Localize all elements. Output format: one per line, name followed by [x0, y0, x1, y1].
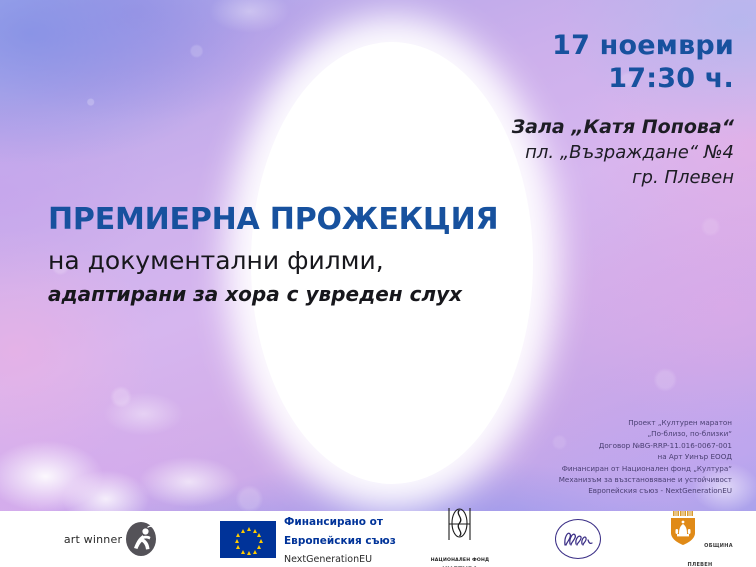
credits-line: Проект „Културен маратон	[402, 417, 732, 428]
credits-line: „По-близо, по-близки“	[402, 428, 732, 439]
eu-label-line-3: NextGenerationEU	[284, 554, 372, 565]
eu-label-line-2: Европейския съюз	[284, 535, 396, 547]
footer-logo-bar: art winner	[0, 511, 756, 567]
art-winner-label: art winner	[64, 533, 122, 546]
running-figure-circle-icon	[126, 522, 156, 556]
credits-line: Европейския съюз - NextGenerationEU	[402, 485, 732, 496]
headline-main: ПРЕМИЕРНА ПРОЖЕКЦИЯ	[48, 203, 478, 236]
credits-line: Финансиран от Национален фонд „Култура“	[402, 463, 732, 474]
venue-city: гр. Плевен	[434, 165, 734, 190]
culture-fund-caption: НАЦИОНАЛЕН ФОНД КУЛТУРА	[420, 558, 500, 567]
logo-national-culture-fund: НАЦИОНАЛЕН ФОНД КУЛТУРА	[420, 511, 500, 567]
venue-hall: Зала „Катя Попова“	[434, 114, 734, 140]
logo-european-union: Финансирано от Европейския съюз NextGene…	[220, 511, 400, 567]
poster-canvas: 17 ноември 17:30 ч. Зала „Катя Попова“ п…	[0, 0, 756, 567]
credits-line: Договор №BG-RRP-11.016-0067-001	[402, 440, 732, 451]
credits-line: на Арт Уинър ЕООД	[402, 451, 732, 462]
event-date: 17 ноември	[434, 30, 734, 63]
culture-fund-monogram-icon	[439, 527, 481, 546]
venue-block: Зала „Катя Попова“ пл. „Възраждане“ №4 г…	[434, 114, 734, 191]
venue-address: пл. „Възраждане“ №4	[434, 140, 734, 165]
event-info-block: 17 ноември 17:30 ч. Зала „Катя Попова“ п…	[434, 30, 734, 190]
headline-subtitle-1: на документални филми,	[48, 246, 478, 276]
eu-label-line-1: Финансирано от	[284, 516, 383, 528]
logo-pleven-municipality: ОБЩИНА ПЛЕВЕН	[655, 511, 745, 567]
logo-art-winner: art winner	[55, 511, 165, 567]
signature-oval-icon	[555, 519, 601, 559]
eu-flag-icon	[220, 521, 276, 558]
culture-fund-caption-small: НАЦИОНАЛЕН ФОНД	[431, 558, 490, 563]
headline-block: ПРЕМИЕРНА ПРОЖЕКЦИЯ на документални филм…	[48, 203, 478, 306]
pleven-coat-of-arms-icon	[667, 532, 704, 551]
logo-sbfd	[538, 511, 618, 567]
credits-block: Проект „Културен маратон „По-близо, по-б…	[402, 417, 732, 497]
credits-line: Механизъм за възстановяване и устойчивос…	[402, 474, 732, 485]
event-time: 17:30 ч.	[434, 63, 734, 96]
headline-subtitle-2: адаптирани за хора с увреден слух	[48, 282, 478, 306]
